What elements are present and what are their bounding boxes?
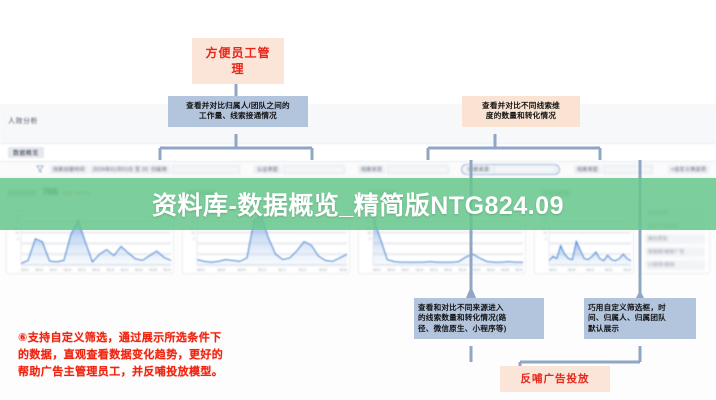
filter-label: 线索创建时间 [50, 165, 88, 174]
list-item[interactable]: 小程序/其他 [645, 260, 705, 270]
nav-section-label: 人效分析 [8, 116, 38, 126]
callout-source-comparison: 查看和对比不同来源进入的线索数量和转化情况(路径、微信原生、小程序等) [414, 298, 544, 339]
filter-lead-type[interactable]: 线索类型 [574, 165, 653, 174]
filter-label: 线索来源 [465, 165, 492, 174]
filter-value-box[interactable] [387, 165, 449, 174]
filter-value-box[interactable] [494, 165, 556, 174]
callout-dimension-comparison: 查看并对比不同线索维度的数量和转化情况 [462, 96, 580, 127]
filter-label: 认证类型 [254, 165, 281, 174]
filter-add-custom[interactable]: +自定义筛选项 [668, 165, 709, 174]
filter-label: 线索状态 [358, 165, 385, 174]
banner-title: 资料库-数据概览_精简版NTG824.09 [0, 178, 716, 230]
filter-value-box[interactable] [603, 165, 653, 174]
filter-toolbar: 线索创建时间 2024年01月01日 至 2024年08月31日 归属地 认证类… [0, 162, 716, 178]
chart-x-axis: 08-0108-0408-0708-1008-1308-1608-1908-22… [373, 268, 523, 272]
red-annotation-note: ⑥支持自定义筛选，通过展示所选条件下的数据，直观查看数据变化趋势，更好的帮助广告… [18, 330, 318, 381]
dashboard-topbar: 人效分析 [0, 104, 716, 144]
filter-lead-create-time[interactable]: 线索创建时间 2024年01月01日 至 2024年08月31日 [50, 165, 160, 174]
filter-lead-status[interactable]: 线索状态 [358, 165, 449, 174]
list-item[interactable]: 微信原生 [645, 234, 705, 244]
chart-x-axis: 08-0108-0408-0708-1008-1308-1608-1908-22… [21, 268, 171, 272]
filter-label: +自定义筛选项 [668, 165, 709, 174]
filter-value-box[interactable] [172, 165, 240, 174]
chart-x-axis: 08-0108-0808-1508-2208-29 [549, 268, 631, 272]
screenshot-stage: 人效分析 数据概览 线索创建时间 2024年01月01日 至 2024年08月3… [0, 0, 716, 400]
chart-x-axis: 08-0108-0508-0908-1308-1708-2108-2508-29 [197, 268, 347, 272]
tab-data-overview[interactable]: 数据概览 [8, 147, 44, 158]
callout-top-title: 方便员工管理 [192, 38, 284, 84]
filter-value-box[interactable] [283, 165, 345, 174]
callout-team-comparison: 查看并对比归属人/团队之间的工作量、线索接通情况 [168, 96, 308, 127]
filter-label: 归属地 [148, 165, 170, 174]
filter-cert-type[interactable]: 认证类型 [254, 165, 345, 174]
filter-lead-source[interactable]: 线索来源 [462, 165, 559, 174]
callout-bottom-title: 反哺广告投放 [500, 366, 610, 392]
filter-label: 线索类型 [574, 165, 601, 174]
funnel-icon[interactable] [36, 165, 44, 173]
callout-custom-filter: 巧用自定义筛选框，时间、归属人、归属团队默认展示 [584, 298, 696, 339]
tab-strip: 数据概览 [0, 144, 716, 162]
list-item[interactable]: 短视频/搜索广告 [645, 247, 705, 257]
filter-region[interactable]: 归属地 [148, 165, 240, 174]
